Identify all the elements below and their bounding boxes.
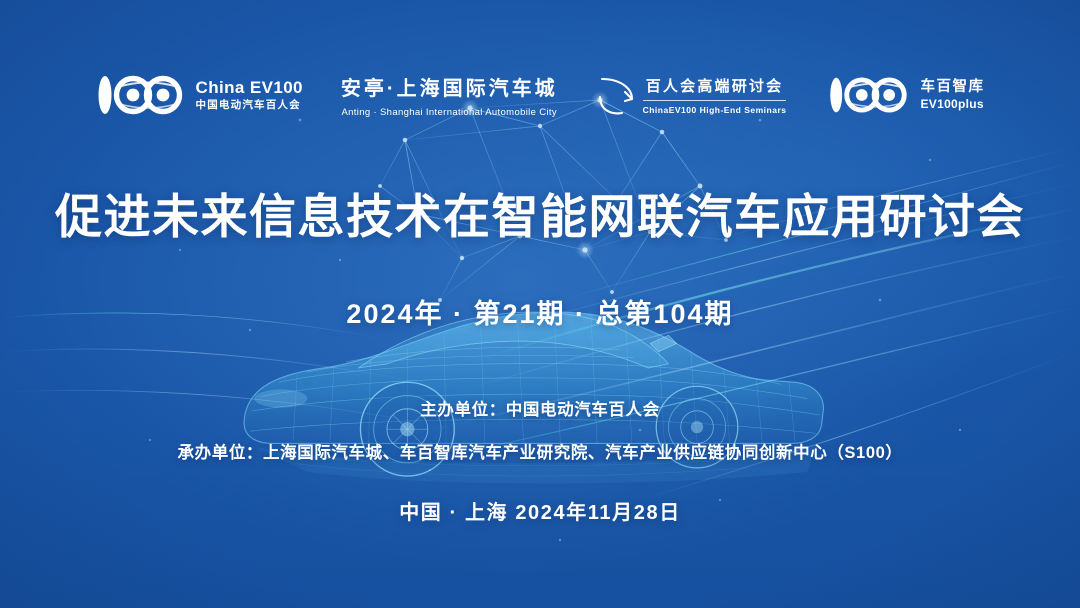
logo-china-ev100: China EV100 中国电动汽车百人会 [96,75,303,115]
logo-china-ev100-cn: 中国电动汽车百人会 [196,100,303,111]
conference-banner: China EV100 中国电动汽车百人会 安亭·上海国际汽车城 Anting … [0,0,1080,608]
venue-and-date: 中国 · 上海 2024年11月28日 [0,496,1080,525]
logo-anting-en: Anting · Shanghai International Automobi… [341,107,557,118]
session-subtitle: 2024年 · 第21期 · 总第104期 [0,292,1080,331]
logo-ev100plus: 车百智库 EV100plus [828,76,984,114]
logo-row: China EV100 中国电动汽车百人会 安亭·上海国际汽车城 Anting … [0,64,1080,126]
logo-seminars-cn: 百人会高端研讨会 [646,75,784,96]
ev100-roundel-icon [828,76,912,114]
ev100-roundel-icon [96,75,188,115]
host-organization: 主办单位：中国电动汽车百人会 [0,396,1080,420]
logo-seminars-divider [643,100,787,101]
logo-ev100plus-cn: 车百智库 [920,80,984,95]
swoosh-arc-icon [598,73,636,117]
page-title: 促进未来信息技术在智能网联汽车应用研讨会 [0,178,1080,247]
logo-anting-cn: 安亭·上海国际汽车城 [341,72,558,101]
co-organizers: 承办单位：上海国际汽车城、车百智库汽车产业研究院、汽车产业供应链协同创新中心（S… [0,439,1080,463]
logo-seminars-en: ChinaEV100 High-End Seminars [643,105,787,115]
logo-china-ev100-en: China EV100 [196,79,303,96]
logo-chinaev100-seminars: 百人会高端研讨会 ChinaEV100 High-End Seminars [598,73,787,117]
logo-anting-shanghai: 安亭·上海国际汽车城 Anting · Shanghai Internation… [341,72,558,118]
logo-ev100plus-en: EV100plus [920,98,984,110]
organizer-block: 主办单位：中国电动汽车百人会 承办单位：上海国际汽车城、车百智库汽车产业研究院、… [0,396,1080,463]
